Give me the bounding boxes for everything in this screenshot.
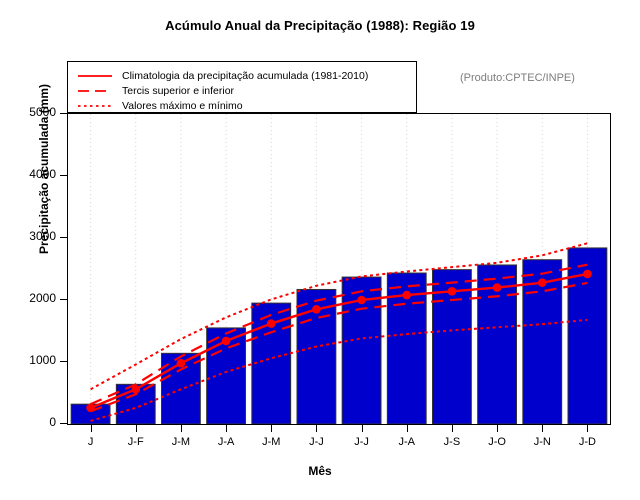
x-tick-mark [181,425,182,432]
series-marker-climatologia [448,287,457,296]
x-axis-title: Mês [0,464,640,478]
y-tick-mark [60,361,67,362]
x-tick-label: J-D [557,436,617,448]
series-marker-climatologia [312,305,321,314]
series-marker-climatologia [267,319,276,328]
series-marker-climatologia [222,337,231,346]
legend-item: Climatologia da precipitação acumulada (… [76,68,408,83]
y-tick-label: 2000 [29,291,56,305]
x-tick-mark [542,425,543,432]
y-tick-mark [60,299,67,300]
series-marker-climatologia [131,385,140,394]
legend: Climatologia da precipitação acumulada (… [67,61,417,113]
chart-canvas: Acúmulo Anual da Precipitação (1988): Re… [0,0,640,500]
page-title: Acúmulo Anual da Precipitação (1988): Re… [0,18,640,33]
series-marker-climatologia [357,296,366,305]
x-tick-mark [587,425,588,432]
y-tick-label: 3000 [29,229,56,243]
product-annotation: (Produto:CPTEC/INPE) [460,72,575,84]
plot-svg [68,114,610,424]
series-marker-climatologia [402,291,411,300]
legend-item: Tercis superior e inferior [76,83,408,98]
y-tick-mark [60,113,67,114]
x-tick-mark [407,425,408,432]
legend-key-dashed-icon [76,85,114,97]
y-tick-label: 4000 [29,167,56,181]
legend-key-solid-icon [76,70,114,82]
x-tick-mark [91,425,92,432]
plot-area [67,113,611,425]
series-marker-climatologia [86,404,95,413]
y-tick-mark [60,175,67,176]
series-marker-climatologia [538,278,547,287]
series-marker-climatologia [493,283,502,292]
legend-label-climatology: Climatologia da precipitação acumulada (… [122,70,368,82]
x-tick-mark [452,425,453,432]
x-tick-mark [226,425,227,432]
legend-item: Valores máximo e mínimo [76,98,408,113]
legend-label-terciles: Tercis superior e inferior [122,85,234,97]
x-tick-mark [362,425,363,432]
x-tick-mark [136,425,137,432]
legend-label-minmax: Valores máximo e mínimo [122,100,243,112]
x-tick-mark [316,425,317,432]
y-tick-label: 1000 [29,353,56,367]
x-tick-mark [271,425,272,432]
series-marker-climatologia [583,270,592,279]
y-tick-mark [60,237,67,238]
legend-key-dotted-icon [76,100,114,112]
y-tick-mark [60,423,67,424]
x-axis: JJ-FJ-MJ-AJ-MJ-JJ-JJ-AJ-SJ-OJ-NJ-D [0,425,640,465]
series-marker-climatologia [177,359,186,368]
x-tick-mark [497,425,498,432]
y-tick-label: 5000 [29,105,56,119]
